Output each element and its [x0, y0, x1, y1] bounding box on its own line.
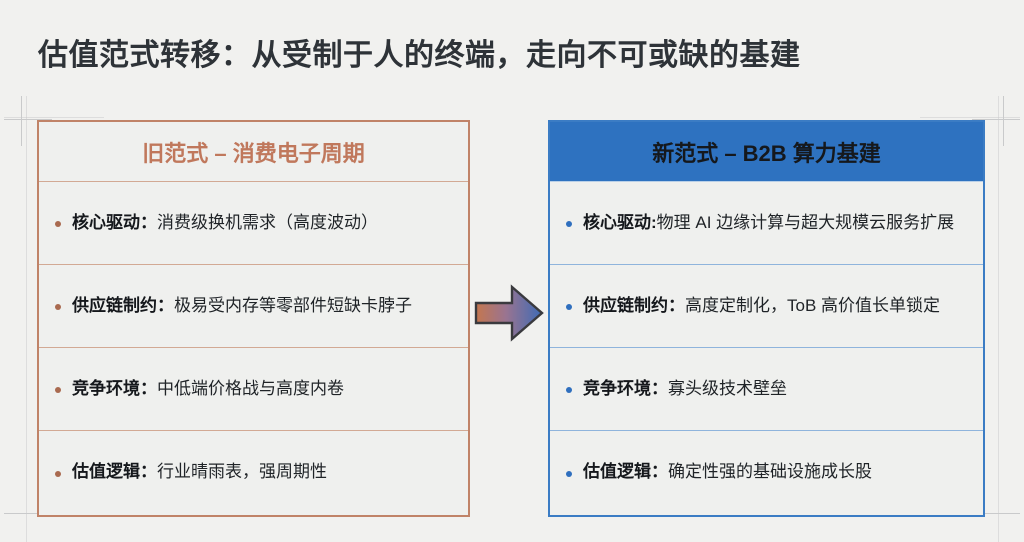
list-item: 供应链制约：高度定制化，ToB 高价值长单锁定	[550, 265, 983, 348]
list-item: 供应链制约：极易受内存等零部件短缺卡脖子	[39, 265, 468, 348]
bullet-icon	[566, 221, 572, 227]
list-item-text: 核心驱动：消费级换机需求（高度波动）	[72, 212, 378, 234]
old-paradigm-panel: 旧范式 – 消费电子周期 核心驱动：消费级换机需求（高度波动） 供应链制约：极易…	[37, 120, 470, 517]
list-item: 核心驱动:物理 AI 边缘计算与超大规模云服务扩展	[550, 182, 983, 265]
list-item-label: 估值逻辑：	[72, 462, 157, 481]
bullet-icon	[566, 471, 572, 477]
list-item-label: 供应链制约：	[583, 296, 685, 315]
new-paradigm-panel: 新范式 – B2B 算力基建 核心驱动:物理 AI 边缘计算与超大规模云服务扩展…	[548, 120, 985, 517]
bullet-icon	[566, 304, 572, 310]
guide-mark-top-right-h2	[920, 117, 1020, 118]
list-item-text: 竞争环境：寡头级技术壁垒	[583, 378, 787, 400]
page-title: 估值范式转移：从受制于人的终端，走向不可或缺的基建	[38, 30, 801, 74]
list-item-text: 估值逻辑：行业晴雨表，强周期性	[72, 461, 327, 483]
list-item-label: 竞争环境：	[72, 379, 157, 398]
list-item-text: 核心驱动:物理 AI 边缘计算与超大规模云服务扩展	[583, 212, 954, 234]
list-item-text: 供应链制约：极易受内存等零部件短缺卡脖子	[72, 295, 412, 317]
list-item-value: 消费级换机需求（高度波动）	[157, 213, 378, 232]
transition-arrow	[474, 283, 544, 343]
list-item-label: 竞争环境：	[583, 379, 668, 398]
list-item: 估值逻辑：行业晴雨表，强周期性	[39, 431, 468, 514]
list-item-text: 估值逻辑：确定性强的基础设施成长股	[583, 461, 872, 483]
list-item: 估值逻辑：确定性强的基础设施成长股	[550, 431, 983, 514]
list-item: 竞争环境：中低端价格战与高度内卷	[39, 348, 468, 431]
arrow-right-icon	[474, 283, 544, 343]
new-paradigm-rows: 核心驱动:物理 AI 边缘计算与超大规模云服务扩展 供应链制约：高度定制化，To…	[550, 182, 983, 514]
list-item-value: 物理 AI 边缘计算与超大规模云服务扩展	[657, 213, 955, 232]
new-paradigm-header: 新范式 – B2B 算力基建	[550, 122, 983, 182]
bullet-icon	[55, 471, 61, 477]
guide-mark-top-right-v2	[998, 96, 999, 542]
list-item-label: 核心驱动：	[72, 213, 157, 232]
list-item-label: 供应链制约：	[72, 296, 174, 315]
list-item-value: 高度定制化，ToB 高价值长单锁定	[685, 296, 940, 315]
bullet-icon	[55, 304, 61, 310]
list-item: 竞争环境：寡头级技术壁垒	[550, 348, 983, 431]
list-item-label: 估值逻辑：	[583, 462, 668, 481]
old-paradigm-header: 旧范式 – 消费电子周期	[39, 122, 468, 182]
old-paradigm-rows: 核心驱动：消费级换机需求（高度波动） 供应链制约：极易受内存等零部件短缺卡脖子 …	[39, 182, 468, 514]
list-item-value: 极易受内存等零部件短缺卡脖子	[174, 296, 412, 315]
list-item-value: 确定性强的基础设施成长股	[668, 462, 872, 481]
list-item-value: 行业晴雨表，强周期性	[157, 462, 327, 481]
guide-mark-top-left-v2	[26, 96, 27, 542]
list-item-label: 核心驱动:	[583, 213, 657, 232]
guide-mark-top-right-v	[1003, 96, 1004, 146]
list-item-text: 供应链制约：高度定制化，ToB 高价值长单锁定	[583, 295, 940, 317]
guide-mark-top-left-h2	[4, 117, 104, 118]
list-item-value: 中低端价格战与高度内卷	[157, 379, 344, 398]
list-item-text: 竞争环境：中低端价格战与高度内卷	[72, 378, 344, 400]
guide-mark-top-left-v	[21, 96, 22, 146]
bullet-icon	[566, 387, 572, 393]
slide-canvas: 估值范式转移：从受制于人的终端，走向不可或缺的基建 旧范式 – 消费电子周期 核…	[0, 0, 1024, 542]
bullet-icon	[55, 221, 61, 227]
list-item: 核心驱动：消费级换机需求（高度波动）	[39, 182, 468, 265]
list-item-value: 寡头级技术壁垒	[668, 379, 787, 398]
bullet-icon	[55, 387, 61, 393]
